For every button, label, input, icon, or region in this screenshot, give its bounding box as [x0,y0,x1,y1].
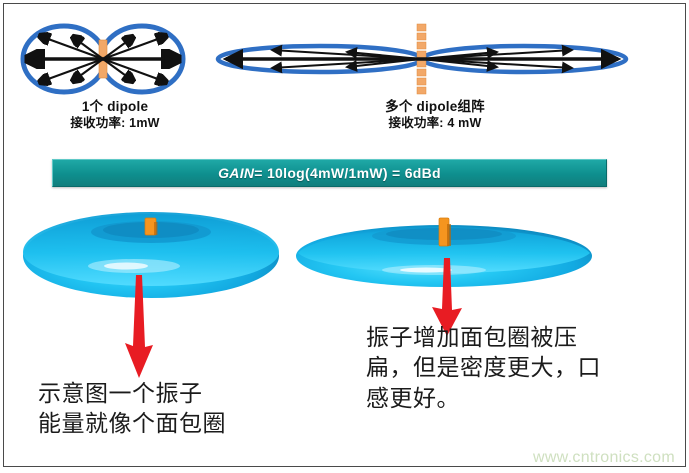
callout-arrow-left [112,275,172,380]
single-dipole-caption-line1: 1个 dipole [30,99,200,116]
annotation-text-left: 示意图一个振子 能量就像个面包圈 [38,378,338,439]
annotation-text-right: 振子增加面包圈被压 扁，但是密度更大，口 感更好。 [366,322,671,413]
array-dipole-caption-line1: 多个 dipole组阵 [330,99,540,116]
single-dipole-caption: 1个 dipole 接收功率: 1mW [30,99,200,132]
single-dipole-caption-line2: 接收功率: 1mW [30,116,200,132]
single-dipole-pattern-svg [18,22,188,96]
array-dipole-caption: 多个 dipole组阵 接收功率: 4 mW [330,99,540,132]
gain-expression: = 10log(4mW/1mW) = 6dBd [254,165,441,181]
array-dipole-pattern-svg [212,22,632,96]
array-dipole-caption-line2: 接收功率: 4 mW [330,116,540,132]
callout-arrow-left-svg [112,275,172,380]
gain-formula-text: GAIN= 10log(4mW/1mW) = 6dBd [218,165,441,181]
multi-dipole-array-radiation-pattern [212,22,632,96]
gain-formula-band: GAIN= 10log(4mW/1mW) = 6dBd [52,159,607,187]
gain-label: GAIN [218,165,254,181]
slide-canvas: 1个 dipole 接收功率: 1mW [0,0,689,473]
watermark: www.cntronics.com [533,449,675,467]
single-dipole-radiation-pattern [18,22,188,96]
